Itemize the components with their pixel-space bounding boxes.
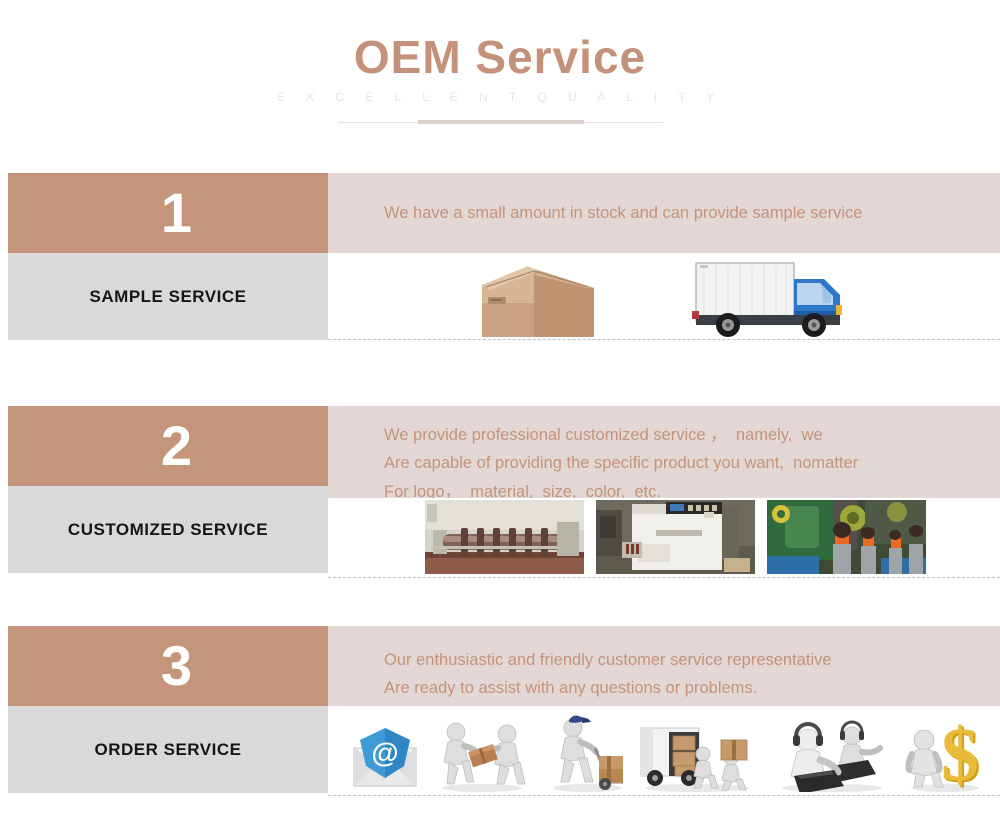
section-label: CUSTOMIZED SERVICE: [8, 486, 328, 573]
hand-truck-delivery-icon: [543, 712, 627, 792]
delivery-truck-icon: [690, 253, 855, 339]
section-media-band: [328, 498, 1000, 578]
page-subtitle: E X C E L L E N T Q U A L I T Y: [0, 90, 1000, 104]
header-divider-accent: [418, 120, 584, 124]
section-text-line: Are ready to assist with any questions o…: [328, 674, 1000, 702]
white-industrial-machine-photo: [596, 500, 755, 574]
section-number-badge: 3: [8, 626, 345, 706]
page-header: OEM Service E X C E L L E N T Q U A L I …: [0, 0, 1000, 160]
page-title: OEM Service: [0, 30, 1000, 84]
section-number-badge: 2: [8, 406, 345, 486]
cardboard-box-icon: [468, 255, 598, 341]
section-text-line: We provide professional customized servi…: [328, 421, 1000, 449]
email-envelope-icon: @: [348, 712, 422, 792]
sample-illustration-row: [328, 253, 1000, 340]
section-media-band: [328, 253, 1000, 340]
service-section-sample: 1 SAMPLE SERVICE We have a small amount …: [0, 173, 1000, 340]
section-content: We provide professional customized servi…: [328, 406, 1000, 578]
svg-text:@: @: [371, 737, 398, 768]
section-content: We have a small amount in stock and can …: [328, 173, 1000, 340]
service-section-order: 3 ORDER SERVICE Our enthusiastic and fri…: [0, 626, 1000, 796]
section-text-line: Our enthusiastic and friendly customer s…: [328, 646, 1000, 674]
factory-photo-row: [425, 500, 926, 574]
section-media-band: @: [328, 706, 1000, 796]
svg-text:$: $: [941, 714, 979, 792]
call-center-agents-icon: [774, 712, 890, 792]
section-number-badge: 1: [8, 173, 345, 253]
service-section-customized: 2 CUSTOMIZED SERVICE We provide professi…: [0, 406, 1000, 578]
box-truck-unloading-icon: [639, 712, 761, 792]
section-text-band: Our enthusiastic and friendly customer s…: [328, 626, 1000, 706]
factory-workers-press-photo: [767, 500, 926, 574]
roll-forming-machine-photo: [425, 500, 584, 574]
section-content: Our enthusiastic and friendly customer s…: [328, 626, 1000, 796]
section-text-line: Are capable of providing the specific pr…: [328, 449, 1000, 477]
section-label: SAMPLE SERVICE: [8, 253, 328, 340]
section-text-band: We provide professional customized servi…: [328, 406, 1000, 498]
order-icon-row: @: [348, 708, 988, 792]
dollar-sign-icon: $ $: [902, 712, 988, 792]
section-text-line: We have a small amount in stock and can …: [328, 199, 1000, 227]
section-label: ORDER SERVICE: [8, 706, 328, 793]
package-handoff-icon: [434, 712, 530, 792]
section-text-band: We have a small amount in stock and can …: [328, 173, 1000, 253]
